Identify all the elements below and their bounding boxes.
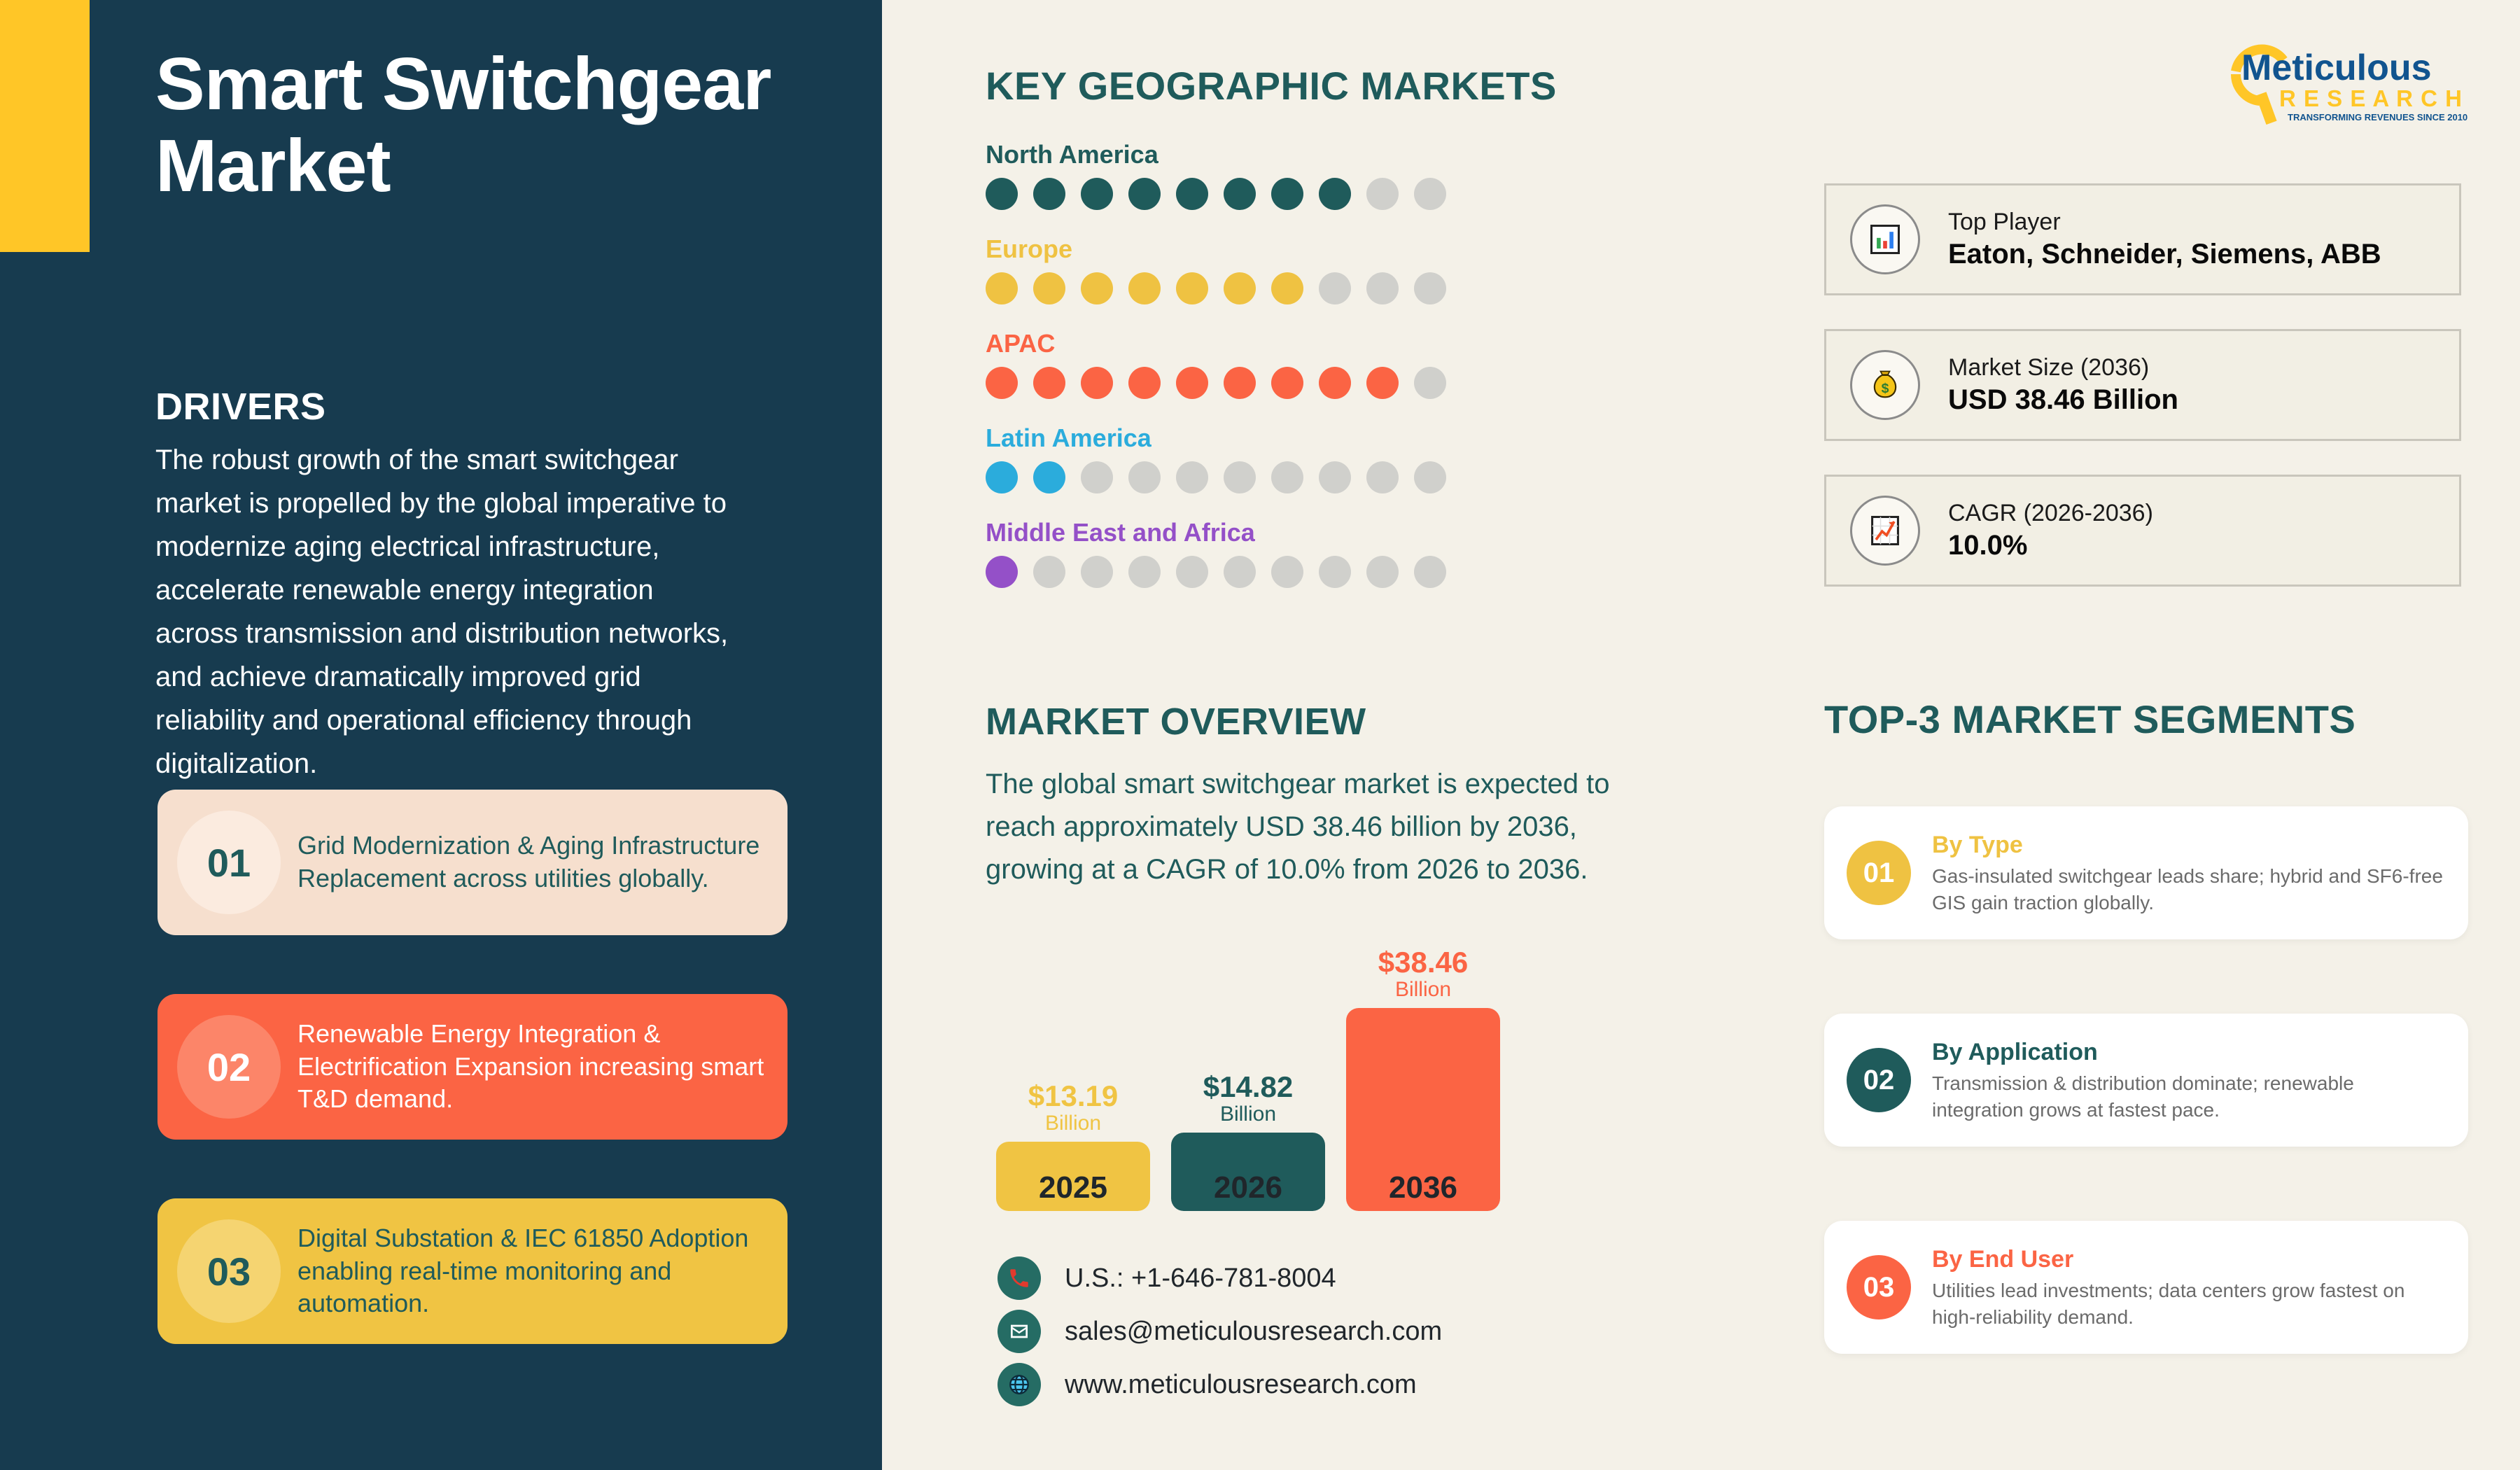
geo-dot-filled (1033, 367, 1065, 399)
key-geographic-markets-heading: KEY GEOGRAPHIC MARKETS (986, 63, 1557, 108)
contact-row-website[interactable]: www.meticulousresearch.com (997, 1363, 1417, 1406)
contact-text: U.S.: +1-646-781-8004 (1065, 1263, 1336, 1294)
geo-dot-filled (1271, 367, 1303, 399)
svg-text:$: $ (1882, 381, 1889, 396)
geo-dot-track (986, 461, 1446, 493)
geo-dot-filled (1224, 178, 1256, 210)
globe-icon (997, 1363, 1041, 1406)
geo-dot-filled (1224, 367, 1256, 399)
market-size-bar-chart: $13.19 Billion $14.82 Billion $38.46 Bil… (990, 903, 1564, 1211)
segment-card: 01 By Type Gas-insulated switchgear lead… (1824, 806, 2468, 939)
geo-dot-empty (1271, 461, 1303, 493)
geo-dot-filled (986, 556, 1018, 588)
bar-category-label: 2026 (1171, 1170, 1325, 1205)
geo-dot-filled (1271, 178, 1303, 210)
geo-dot-empty (1319, 556, 1351, 588)
segment-title: By Type (1932, 829, 2449, 860)
contact-text: www.meticulousresearch.com (1065, 1370, 1417, 1400)
geo-dot-empty (1271, 556, 1303, 588)
segment-title: By Application (1932, 1037, 2449, 1067)
bar-unit-label: Billion (1395, 978, 1451, 1001)
geo-dot-empty (1081, 461, 1113, 493)
segment-description: Utilities lead investments; data centers… (1932, 1277, 2449, 1331)
geo-dot-filled (1319, 178, 1351, 210)
geo-dot-track (986, 367, 1446, 399)
driver-text: Grid Modernization & Aging Infrastructur… (281, 829, 787, 895)
geo-dot-track (986, 556, 1446, 588)
contact-row-email[interactable]: sales@meticulousresearch.com (997, 1310, 1442, 1353)
geo-dot-filled (1081, 178, 1113, 210)
geo-dot-empty (1414, 178, 1446, 210)
geo-dot-empty (1414, 461, 1446, 493)
phone-icon (997, 1256, 1041, 1300)
geo-dot-filled (986, 178, 1018, 210)
contact-row-phone[interactable]: U.S.: +1-646-781-8004 (997, 1256, 1336, 1300)
segment-description: Gas-insulated switchgear leads share; hy… (1932, 863, 2449, 916)
geo-dot-empty (1414, 367, 1446, 399)
top-3-market-segments-heading: TOP-3 MARKET SEGMENTS (1824, 696, 2355, 742)
stat-card-top-player: Top Player Eaton, Schneider, Siemens, AB… (1824, 183, 2461, 295)
geo-row-europe: Europe (986, 234, 1446, 304)
geo-label: Europe (986, 234, 1446, 264)
drivers-body-text: The robust growth of the smart switchgea… (155, 438, 736, 785)
geo-dot-filled (1176, 178, 1208, 210)
bar-category-label: 2025 (996, 1170, 1150, 1205)
bar-column: $13.19 Billion (996, 903, 1150, 1211)
geo-dot-filled (1081, 367, 1113, 399)
geo-dot-empty (1224, 556, 1256, 588)
stat-label: Top Player (1948, 207, 2381, 237)
segment-title: By End User (1932, 1244, 2449, 1275)
geo-dot-filled (1176, 272, 1208, 304)
driver-number: 03 (177, 1219, 281, 1323)
geo-dot-filled (1033, 272, 1065, 304)
stat-value: 10.0% (1948, 528, 2153, 563)
geo-dot-empty (1224, 461, 1256, 493)
yellow-accent-bar (0, 0, 90, 252)
geo-dot-filled (1128, 178, 1161, 210)
logo-primary-text: Meticulous (2241, 48, 2432, 88)
geo-dot-filled (986, 272, 1018, 304)
logo-tagline: TRANSFORMING REVENUES SINCE 2010 (2288, 112, 2467, 122)
stat-value: USD 38.46 Billion (1948, 382, 2178, 417)
geo-dot-empty (1128, 461, 1161, 493)
geo-label: Latin America (986, 423, 1446, 453)
stat-value: Eaton, Schneider, Siemens, ABB (1948, 237, 2381, 272)
geo-label: Middle East and Africa (986, 518, 1446, 547)
segment-card: 03 By End User Utilities lead investment… (1824, 1221, 2468, 1354)
geo-dot-empty (1033, 556, 1065, 588)
stat-label: Market Size (2036) (1948, 353, 2178, 383)
geo-dot-filled (1366, 367, 1399, 399)
geo-dot-filled (1224, 272, 1256, 304)
geo-dot-filled (1033, 461, 1065, 493)
bar-column: $38.46 Billion (1346, 903, 1500, 1211)
geo-dot-filled (986, 367, 1018, 399)
geo-dot-empty (1176, 461, 1208, 493)
geo-dot-empty (1366, 461, 1399, 493)
segment-number: 01 (1847, 841, 1911, 905)
bar-value-label: $13.19 (1028, 1081, 1118, 1112)
geo-dot-filled (1176, 367, 1208, 399)
bar-unit-label: Billion (1045, 1112, 1101, 1135)
geo-dot-filled (1128, 272, 1161, 304)
geo-dot-filled (1319, 367, 1351, 399)
bar-value-label: $14.82 (1203, 1072, 1293, 1102)
trend-up-icon (1850, 496, 1920, 566)
meticulous-research-logo: Meticulous R E S E A R C H TRANSFORMING … (2212, 34, 2478, 125)
market-overview-text: The global smart switchgear market is ex… (986, 763, 1658, 890)
stat-card-cagr: CAGR (2026-2036) 10.0% (1824, 475, 2461, 587)
geo-row-middle-east-and-africa: Middle East and Africa (986, 518, 1446, 588)
left-panel: Smart Switchgear Market DRIVERS The robu… (0, 0, 882, 1470)
bar-category-label: 2036 (1346, 1170, 1500, 1205)
email-icon (997, 1310, 1041, 1353)
bar-value-label: $38.46 (1378, 948, 1468, 978)
geo-dot-empty (1366, 556, 1399, 588)
driver-text: Renewable Energy Integration & Electrifi… (281, 1018, 787, 1116)
driver-number: 02 (177, 1015, 281, 1119)
geo-dot-empty (1319, 272, 1351, 304)
geo-dot-empty (1128, 556, 1161, 588)
contact-text: sales@meticulousresearch.com (1065, 1317, 1442, 1347)
segment-description: Transmission & distribution dominate; re… (1932, 1070, 2449, 1123)
stat-card-market-size: $ Market Size (2036) USD 38.46 Billion (1824, 329, 2461, 441)
geo-dot-empty (1081, 556, 1113, 588)
logo-secondary-text: R E S E A R C H (2279, 85, 2463, 111)
bar-unit-label: Billion (1220, 1102, 1276, 1126)
geo-label: North America (986, 140, 1446, 169)
geo-dot-track (986, 272, 1446, 304)
geo-dot-filled (1128, 367, 1161, 399)
driver-card: 02 Renewable Energy Integration & Electr… (157, 994, 787, 1140)
bar-column: $14.82 Billion (1171, 903, 1325, 1211)
geo-row-apac: APAC (986, 329, 1446, 399)
segment-card: 02 By Application Transmission & distrib… (1824, 1014, 2468, 1147)
geo-dot-filled (1081, 272, 1113, 304)
stat-label: CAGR (2026-2036) (1948, 498, 2153, 528)
geo-row-north-america: North America (986, 140, 1446, 210)
geo-dot-empty (1414, 556, 1446, 588)
geo-dot-filled (986, 461, 1018, 493)
geo-label: APAC (986, 329, 1446, 358)
market-overview-heading: MARKET OVERVIEW (986, 700, 1366, 743)
driver-text: Digital Substation & IEC 61850 Adoption … (281, 1222, 787, 1320)
drivers-heading: DRIVERS (155, 385, 326, 428)
money-bag-icon: $ (1850, 350, 1920, 420)
geo-row-latin-america: Latin America (986, 423, 1446, 493)
bar-chart-icon (1850, 204, 1920, 274)
segment-number: 02 (1847, 1048, 1911, 1112)
geo-dot-track (986, 178, 1446, 210)
driver-number: 01 (177, 811, 281, 914)
driver-card: 03 Digital Substation & IEC 61850 Adopti… (157, 1198, 787, 1344)
driver-card: 01 Grid Modernization & Aging Infrastruc… (157, 790, 787, 935)
geo-dot-empty (1366, 272, 1399, 304)
geo-dot-empty (1319, 461, 1351, 493)
page-title: Smart Switchgear Market (155, 43, 785, 206)
segment-number: 03 (1847, 1255, 1911, 1319)
geo-dot-empty (1414, 272, 1446, 304)
geo-dot-empty (1176, 556, 1208, 588)
geo-dot-filled (1271, 272, 1303, 304)
geo-dot-filled (1033, 178, 1065, 210)
geo-dot-empty (1366, 178, 1399, 210)
